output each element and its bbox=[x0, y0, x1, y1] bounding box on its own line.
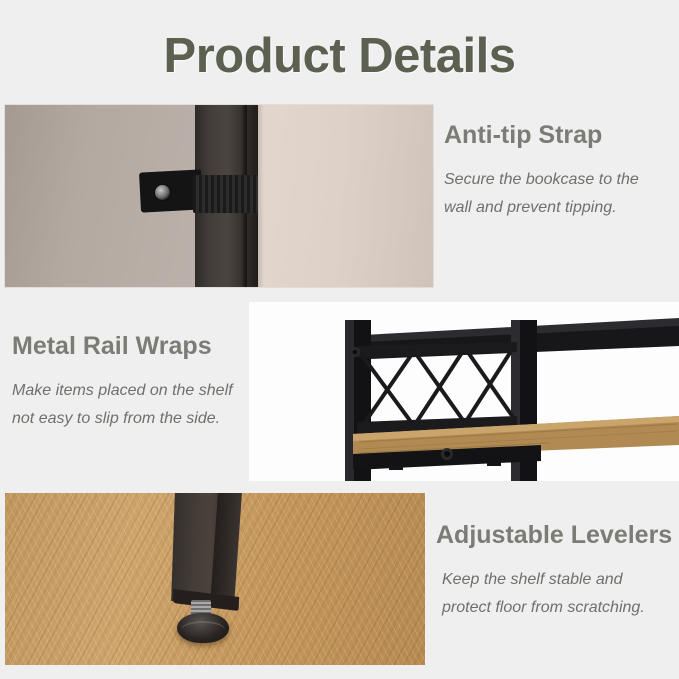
adjustable-levelers-body-line-2: protect floor from scratching. bbox=[442, 594, 676, 622]
wall-right-surface bbox=[258, 105, 433, 287]
anti-tip-strap-heading: Anti-tip Strap bbox=[444, 122, 676, 150]
adjustable-levelers-text-block: Adjustable Levelers Keep the shelf stabl… bbox=[436, 522, 676, 622]
anti-tip-strap-body-line-2: wall and prevent tipping. bbox=[444, 194, 676, 222]
strap-screw-icon bbox=[155, 185, 170, 200]
anti-tip-strap-text-block: Anti-tip Strap Secure the bookcase to th… bbox=[444, 122, 676, 222]
metal-rail-wraps-heading: Metal Rail Wraps bbox=[12, 333, 250, 361]
metal-rail-wraps-body-line-1: Make items placed on the shelf bbox=[12, 377, 250, 405]
adjustable-levelers-photo bbox=[5, 493, 425, 665]
metal-rail-illustration bbox=[249, 302, 679, 481]
product-details-infographic: Product Details Anti-tip Strap Secure th… bbox=[0, 0, 679, 679]
page-title: Product Details bbox=[0, 28, 679, 84]
adjustable-levelers-body: Keep the shelf stable and protect floor … bbox=[436, 566, 676, 622]
metal-rail-wraps-photo bbox=[249, 302, 679, 481]
metal-rail-wraps-body: Make items placed on the shelf not easy … bbox=[12, 377, 250, 433]
anti-tip-strap-body: Secure the bookcase to the wall and prev… bbox=[444, 166, 676, 222]
anti-tip-strap-body-line-1: Secure the bookcase to the bbox=[444, 166, 676, 194]
adjustable-levelers-body-line-1: Keep the shelf stable and bbox=[442, 566, 676, 594]
metal-rail-wraps-body-line-2: not easy to slip from the side. bbox=[12, 405, 250, 433]
leveler-foot-pad-highlight bbox=[181, 621, 225, 639]
anti-tip-strap-photo bbox=[5, 105, 433, 287]
strap-band bbox=[193, 175, 258, 213]
adjustable-levelers-heading: Adjustable Levelers bbox=[436, 522, 676, 550]
metal-rail-wraps-text-block: Metal Rail Wraps Make items placed on th… bbox=[12, 333, 250, 433]
